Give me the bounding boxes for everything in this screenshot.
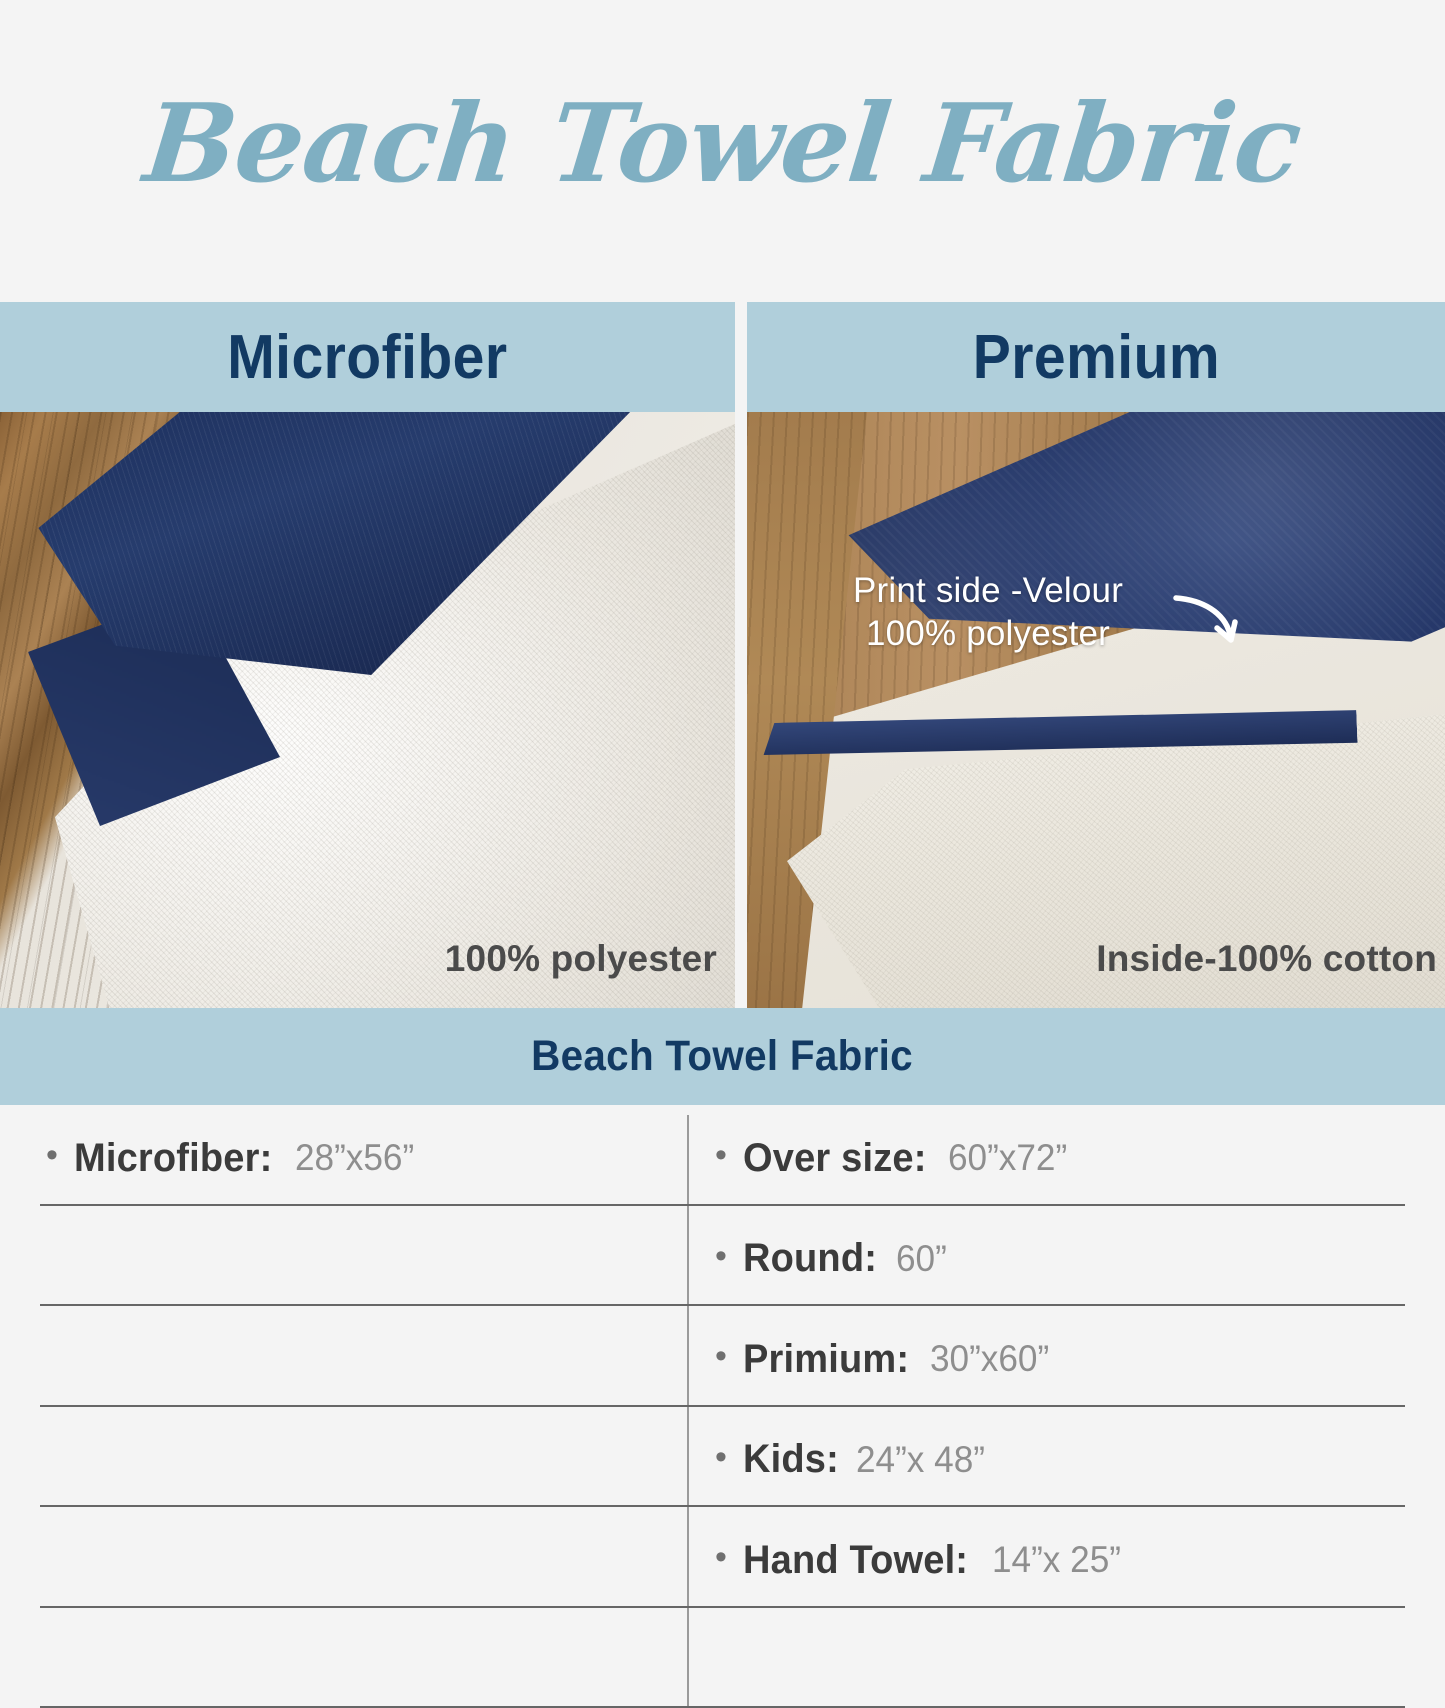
velour-caption-line2: 100% polyester xyxy=(773,613,1203,656)
table-row xyxy=(0,1608,1445,1708)
bullet-icon: • xyxy=(715,1239,727,1273)
spec-cell-left: •Microfiber:28”x56” xyxy=(0,1105,687,1206)
photo-caption-microfiber: 100% polyester xyxy=(445,938,717,980)
table-row: •Primium:30”x60” xyxy=(0,1306,1445,1407)
spec-cell-right: •Kids:24”x 48” xyxy=(687,1407,1445,1508)
infographic-page: Beach Towel Fabric Microfiber 100% polye… xyxy=(0,0,1445,1708)
table-row: •Microfiber:28”x56”•Over size:60”x72” xyxy=(0,1105,1445,1206)
section-band: Beach Towel Fabric xyxy=(0,1008,1445,1105)
spec-label: Round: xyxy=(743,1236,877,1281)
bullet-icon: • xyxy=(715,1540,727,1574)
bullet-icon: • xyxy=(46,1138,58,1172)
spec-rows: •Microfiber:28”x56”•Over size:60”x72”•Ro… xyxy=(0,1105,1445,1708)
spec-label: Kids: xyxy=(743,1437,839,1482)
photo-premium: Print side -Velour 100% polyester Inside… xyxy=(747,412,1445,1008)
compare-column-premium: Premium Print side -Velour 100% polyeste… xyxy=(747,302,1445,1008)
page-title: Beach Towel Fabric xyxy=(0,88,1445,201)
comparison-section: Microfiber 100% polyester Premium xyxy=(0,302,1445,1008)
velour-caption-line1: Print side -Velour xyxy=(773,570,1203,613)
bullet-icon: • xyxy=(715,1339,727,1373)
table-row: •Kids:24”x 48” xyxy=(0,1407,1445,1508)
column-header-microfiber: Microfiber xyxy=(0,302,735,412)
bullet-icon: • xyxy=(715,1440,727,1474)
spec-table: •Microfiber:28”x56”•Over size:60”x72”•Ro… xyxy=(0,1105,1445,1708)
velour-overlay-caption: Print side -Velour 100% polyester xyxy=(773,570,1203,655)
section-band-label: Beach Towel Fabric xyxy=(532,1032,914,1081)
spec-label: Primium: xyxy=(743,1337,909,1382)
column-header-premium: Premium xyxy=(747,302,1445,412)
spec-value: 30”x60” xyxy=(930,1338,1049,1380)
compare-column-microfiber: Microfiber 100% polyester xyxy=(0,302,735,1008)
spec-cell-right: •Over size:60”x72” xyxy=(687,1105,1445,1206)
photo-caption-premium: Inside-100% cotton xyxy=(1096,938,1437,980)
table-row: •Round:60” xyxy=(0,1206,1445,1307)
spec-value: 14”x 25” xyxy=(992,1539,1121,1581)
spec-value: 60” xyxy=(896,1238,947,1280)
spec-value: 28”x56” xyxy=(295,1137,414,1179)
spec-label: Hand Towel: xyxy=(743,1538,968,1583)
column-header-label: Microfiber xyxy=(227,322,507,393)
column-header-label: Premium xyxy=(972,322,1219,393)
curved-arrow-icon xyxy=(1172,584,1247,654)
spec-value: 24”x 48” xyxy=(856,1439,985,1481)
spec-value: 60”x72” xyxy=(948,1137,1067,1179)
spec-label: Over size: xyxy=(743,1136,927,1181)
spec-cell-right: •Primium:30”x60” xyxy=(687,1306,1445,1407)
table-row: •Hand Towel:14”x 25” xyxy=(0,1507,1445,1608)
spec-cell-right: •Round:60” xyxy=(687,1206,1445,1307)
spec-cell-right: •Hand Towel:14”x 25” xyxy=(687,1507,1445,1608)
title-area: Beach Towel Fabric xyxy=(0,0,1445,302)
spec-label: Microfiber: xyxy=(74,1136,272,1181)
column-gap xyxy=(735,302,747,1008)
photo-microfiber: 100% polyester xyxy=(0,412,735,1008)
bullet-icon: • xyxy=(715,1138,727,1172)
